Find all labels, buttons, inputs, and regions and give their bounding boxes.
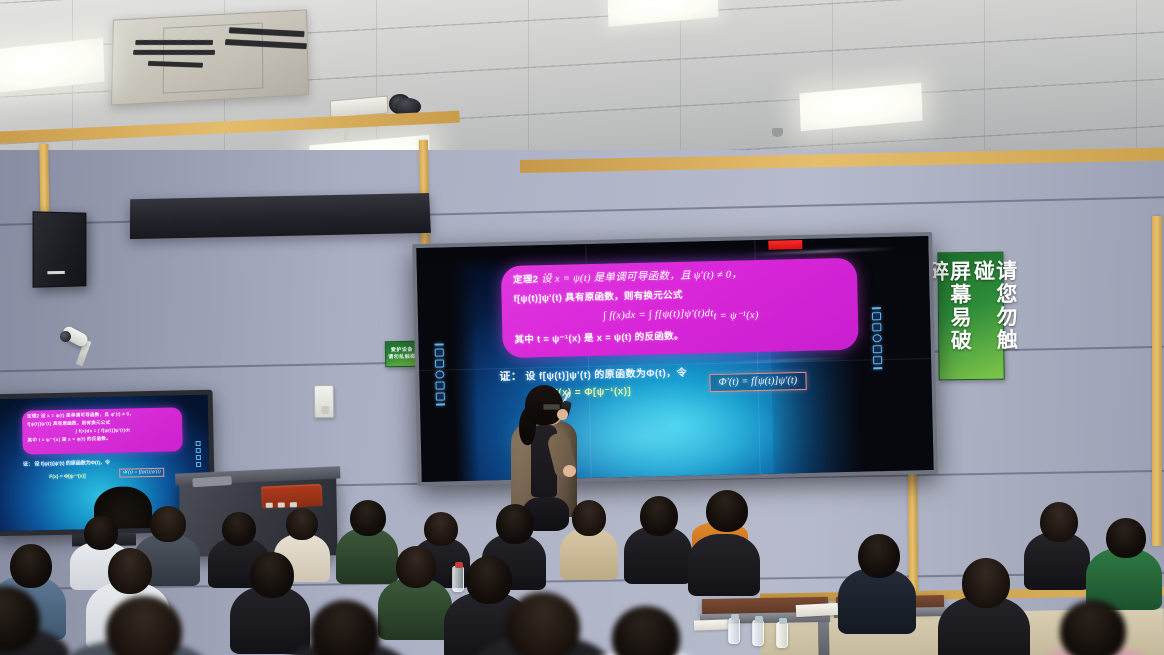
monitor-proof-label: 证：: [23, 461, 33, 467]
ac-vent-slat: [148, 61, 203, 68]
speaker-label-strip: [47, 271, 64, 274]
apps-icon[interactable]: [435, 392, 444, 400]
student-head: [1106, 518, 1146, 558]
podium-button[interactable]: [278, 502, 285, 507]
osd-toolbar-right[interactable]: [870, 307, 883, 369]
speaker-icon: [33, 211, 87, 287]
proof-boxed-formula: Φ'(t) = f[ψ(t)]ψ'(t): [709, 372, 806, 392]
monitor-theorem-box: 定理2 设 x = ψ(t) 是单调可导函数，且 ψ'(t) ≠ 0， f[ψ(…: [22, 407, 183, 454]
lecturer-glasses: [543, 404, 560, 410]
warning-sign-column-right: 请您勿触碰: [971, 260, 1016, 372]
bottle-cap: [731, 614, 739, 620]
water-bottle: [776, 622, 788, 648]
ac-vent-slat: [135, 40, 213, 45]
lecturer-hand-lower: [563, 465, 576, 477]
theorem-callout-box: 定理2 设 x = ψ(t) 是单调可导函数，且 ψ'(t) ≠ 0， f[ψ(…: [501, 258, 859, 358]
student-head: [858, 534, 900, 578]
back-icon[interactable]: [196, 462, 201, 467]
student-head: [506, 592, 580, 655]
student-body: [336, 528, 398, 584]
proof-label: 证：: [499, 371, 522, 384]
bottle-cap: [455, 562, 463, 568]
student-head: [150, 506, 186, 542]
water-bottle: [752, 620, 764, 646]
lecture-hall-photo: 爱护设备 请勿乱触碰 屏幕易破碎 请您勿触碰 定理2 设 x = ψ(t) 是单…: [0, 0, 1164, 655]
camera-lens-icon: [60, 331, 71, 342]
red-indicator-tab: [768, 240, 802, 250]
acoustic-soffit-panel: [130, 193, 431, 239]
home-icon[interactable]: [435, 370, 444, 378]
student-head: [424, 512, 458, 546]
monitor-osd-toolbar[interactable]: [196, 441, 202, 467]
student-head: [250, 552, 294, 598]
wall-trim-vertical: [1152, 216, 1162, 546]
theorem-formula-subscript: t = ψ⁻¹(x): [713, 310, 758, 322]
podium-button[interactable]: [290, 502, 297, 507]
student-head: [84, 516, 118, 550]
menu-icon[interactable]: [871, 307, 880, 309]
menu-icon[interactable]: [434, 343, 443, 345]
home-icon[interactable]: [196, 455, 201, 460]
student-head: [572, 500, 606, 536]
screen-fragile-warning-sign: 屏幕易破碎 请您勿触碰: [937, 252, 1004, 381]
air-conditioner-icon: [111, 9, 309, 105]
menu-icon[interactable]: [435, 403, 444, 405]
input-source-icon[interactable]: [196, 448, 201, 453]
sprinkler-head-icon: [772, 128, 783, 137]
ac-vent-slat: [133, 50, 215, 55]
monitor-theorem-label: 定理2: [27, 413, 39, 418]
notebook-paper: [796, 603, 839, 617]
podium-button[interactable]: [266, 503, 273, 508]
student-head: [496, 504, 534, 544]
bottle-cap: [755, 616, 763, 622]
student-head: [108, 548, 152, 594]
student-body: [688, 534, 760, 596]
student-head: [1040, 502, 1078, 542]
podium-button-row[interactable]: [266, 502, 297, 508]
input-source-icon[interactable]: [872, 323, 881, 331]
menu-icon[interactable]: [873, 367, 882, 369]
theorem-line-1-body: 设 x = ψ(t) 是单调可导函数，且 ψ'(t) ≠ 0，: [541, 269, 742, 285]
student-head: [222, 512, 256, 546]
student-head: [350, 500, 386, 536]
monitor-proof-line-2: F(x) = Φ[ψ⁻¹(x)]: [49, 473, 86, 480]
podium-control-panel[interactable]: [192, 476, 231, 487]
apps-icon[interactable]: [872, 356, 881, 364]
student-head: [640, 496, 678, 536]
main-led-video-wall[interactable]: 定理2 设 x = ψ(t) 是单调可导函数，且 ψ'(t) ≠ 0， f[ψ(…: [412, 232, 938, 486]
student-head: [466, 556, 512, 604]
water-bottle: [728, 618, 740, 644]
monitor-boxed-formula: Φ'(t) = f[ψ(t)]ψ'(t): [119, 468, 165, 478]
back-icon[interactable]: [872, 345, 881, 353]
home-icon[interactable]: [872, 334, 881, 342]
small-sign-line-1: 爱护设备: [391, 348, 413, 354]
small-sign-line-2: 请勿乱触碰: [388, 354, 416, 360]
settings-icon[interactable]: [434, 348, 443, 356]
settings-icon[interactable]: [196, 441, 201, 446]
lecturer-hand-upper: [557, 409, 568, 420]
screen-vignette-left: [416, 247, 479, 482]
input-source-icon[interactable]: [434, 359, 443, 367]
water-bottle: [452, 566, 464, 592]
bottle-cap: [779, 618, 787, 624]
student-head: [396, 546, 436, 588]
osd-toolbar-left[interactable]: [433, 343, 446, 405]
notebook-paper: [694, 619, 728, 630]
settings-icon[interactable]: [871, 312, 880, 320]
wall-switch-plate[interactable]: [314, 385, 335, 418]
student-head: [962, 558, 1010, 608]
student-head: [706, 490, 748, 532]
monitor-theorem-line-1-body: 设 x = ψ(t) 是单调可导函数，且 ψ'(t) ≠ 0，: [41, 411, 134, 418]
student-head: [1060, 600, 1126, 655]
theorem-label: 定理2: [513, 274, 538, 286]
theorem-formula-main: ∫ f(x)dx = ∫ f[ψ(t)]ψ'(t)dt: [603, 308, 714, 322]
back-icon[interactable]: [435, 381, 444, 389]
student-head: [10, 544, 52, 588]
student-head: [286, 508, 318, 540]
